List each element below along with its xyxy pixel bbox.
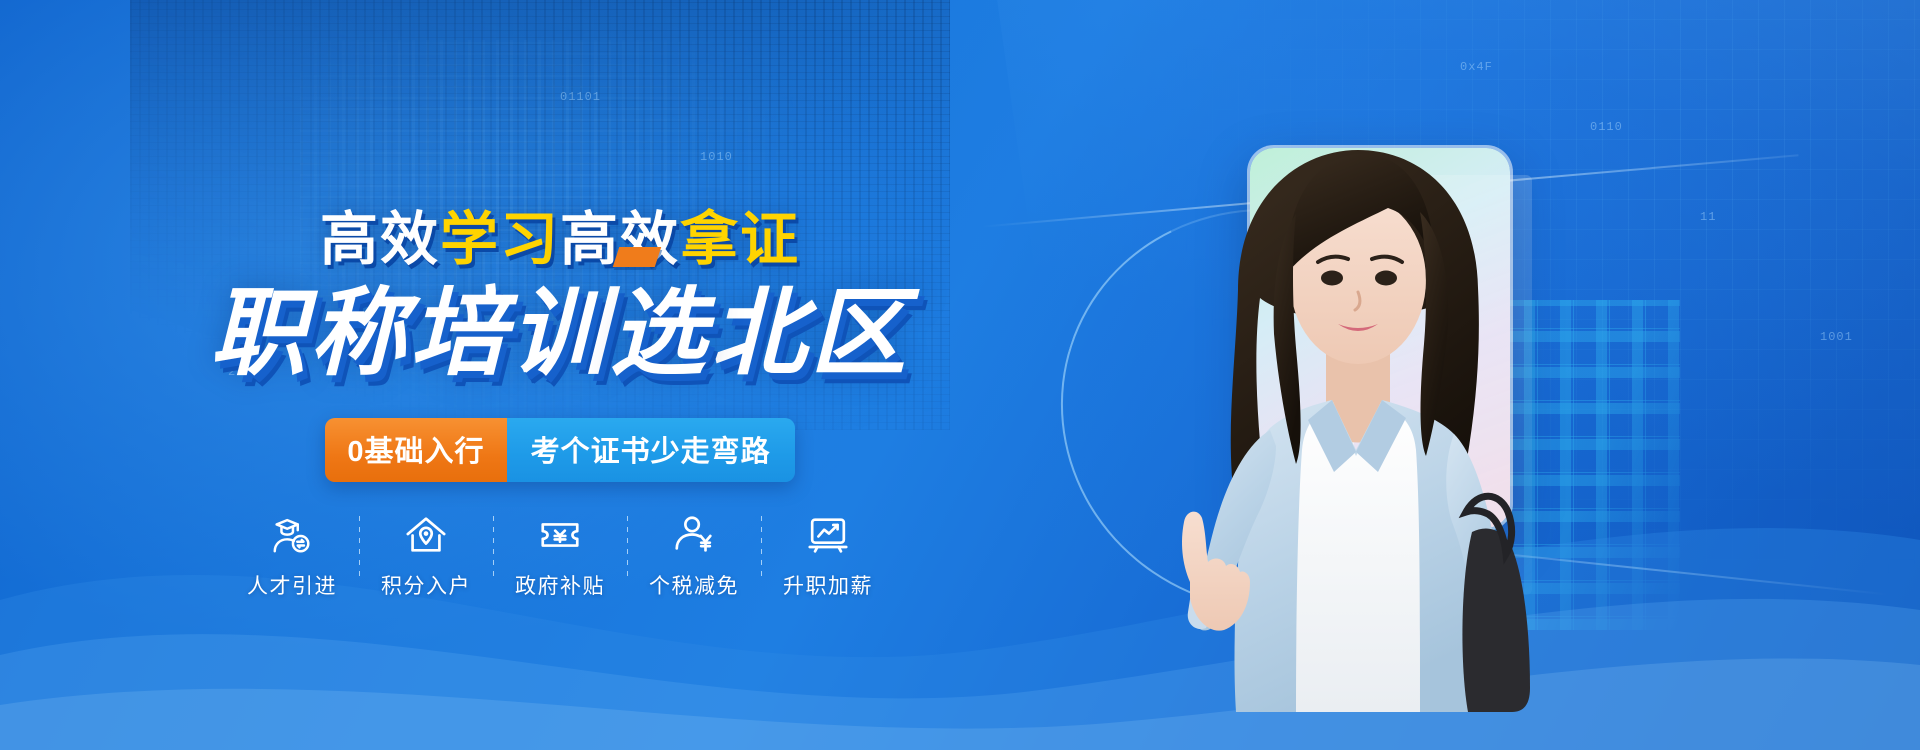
feature-label: 升职加薪 <box>783 570 873 600</box>
list-item[interactable]: 个税减免 <box>628 512 761 600</box>
promo-banner: 229 01101 1010 0110 11 0x4F 1001 <box>0 0 1920 750</box>
feature-label: 政府补贴 <box>515 570 605 600</box>
title-accent-wrap: 选 <box>610 255 710 394</box>
badge-label-left: 0基础入行 <box>325 418 506 482</box>
badge-label-right: 考个证书少走弯路 <box>507 418 795 482</box>
speck-6: 1001 <box>1820 330 1853 344</box>
feature-list: 人才引进 积分入户 <box>0 512 1120 600</box>
status-badge: 0基础入行 考个证书少走弯路 <box>0 418 1120 482</box>
feature-label: 个税减免 <box>649 570 739 600</box>
person-yuan-icon <box>671 512 717 558</box>
list-item[interactable]: 政府补贴 <box>494 512 627 600</box>
list-item[interactable]: 升职加薪 <box>762 512 895 600</box>
list-item[interactable]: 人才引进 <box>226 512 359 600</box>
page-title: 职称培训选北区 <box>0 255 1120 394</box>
hero-visual <box>1100 0 1740 750</box>
ticket-yuan-icon <box>537 512 583 558</box>
feature-label: 人才引进 <box>247 570 337 600</box>
badge-inner: 0基础入行 考个证书少走弯路 <box>325 418 794 482</box>
title-accent-char: 选 <box>610 280 710 387</box>
title-before: 职称培训 <box>210 280 610 387</box>
title-after: 北区 <box>710 280 910 387</box>
chart-board-icon <box>805 512 851 558</box>
banner-content: 高效学习高效拿证 职称培训选北区 0基础入行 考个证书少走弯路 <box>0 0 1120 750</box>
avatar <box>1120 112 1590 712</box>
orange-accent-stroke <box>613 247 661 267</box>
graduate-talent-icon <box>269 512 315 558</box>
house-pin-icon <box>403 512 449 558</box>
feature-label: 积分入户 <box>381 570 471 600</box>
list-item[interactable]: 积分入户 <box>360 512 493 600</box>
